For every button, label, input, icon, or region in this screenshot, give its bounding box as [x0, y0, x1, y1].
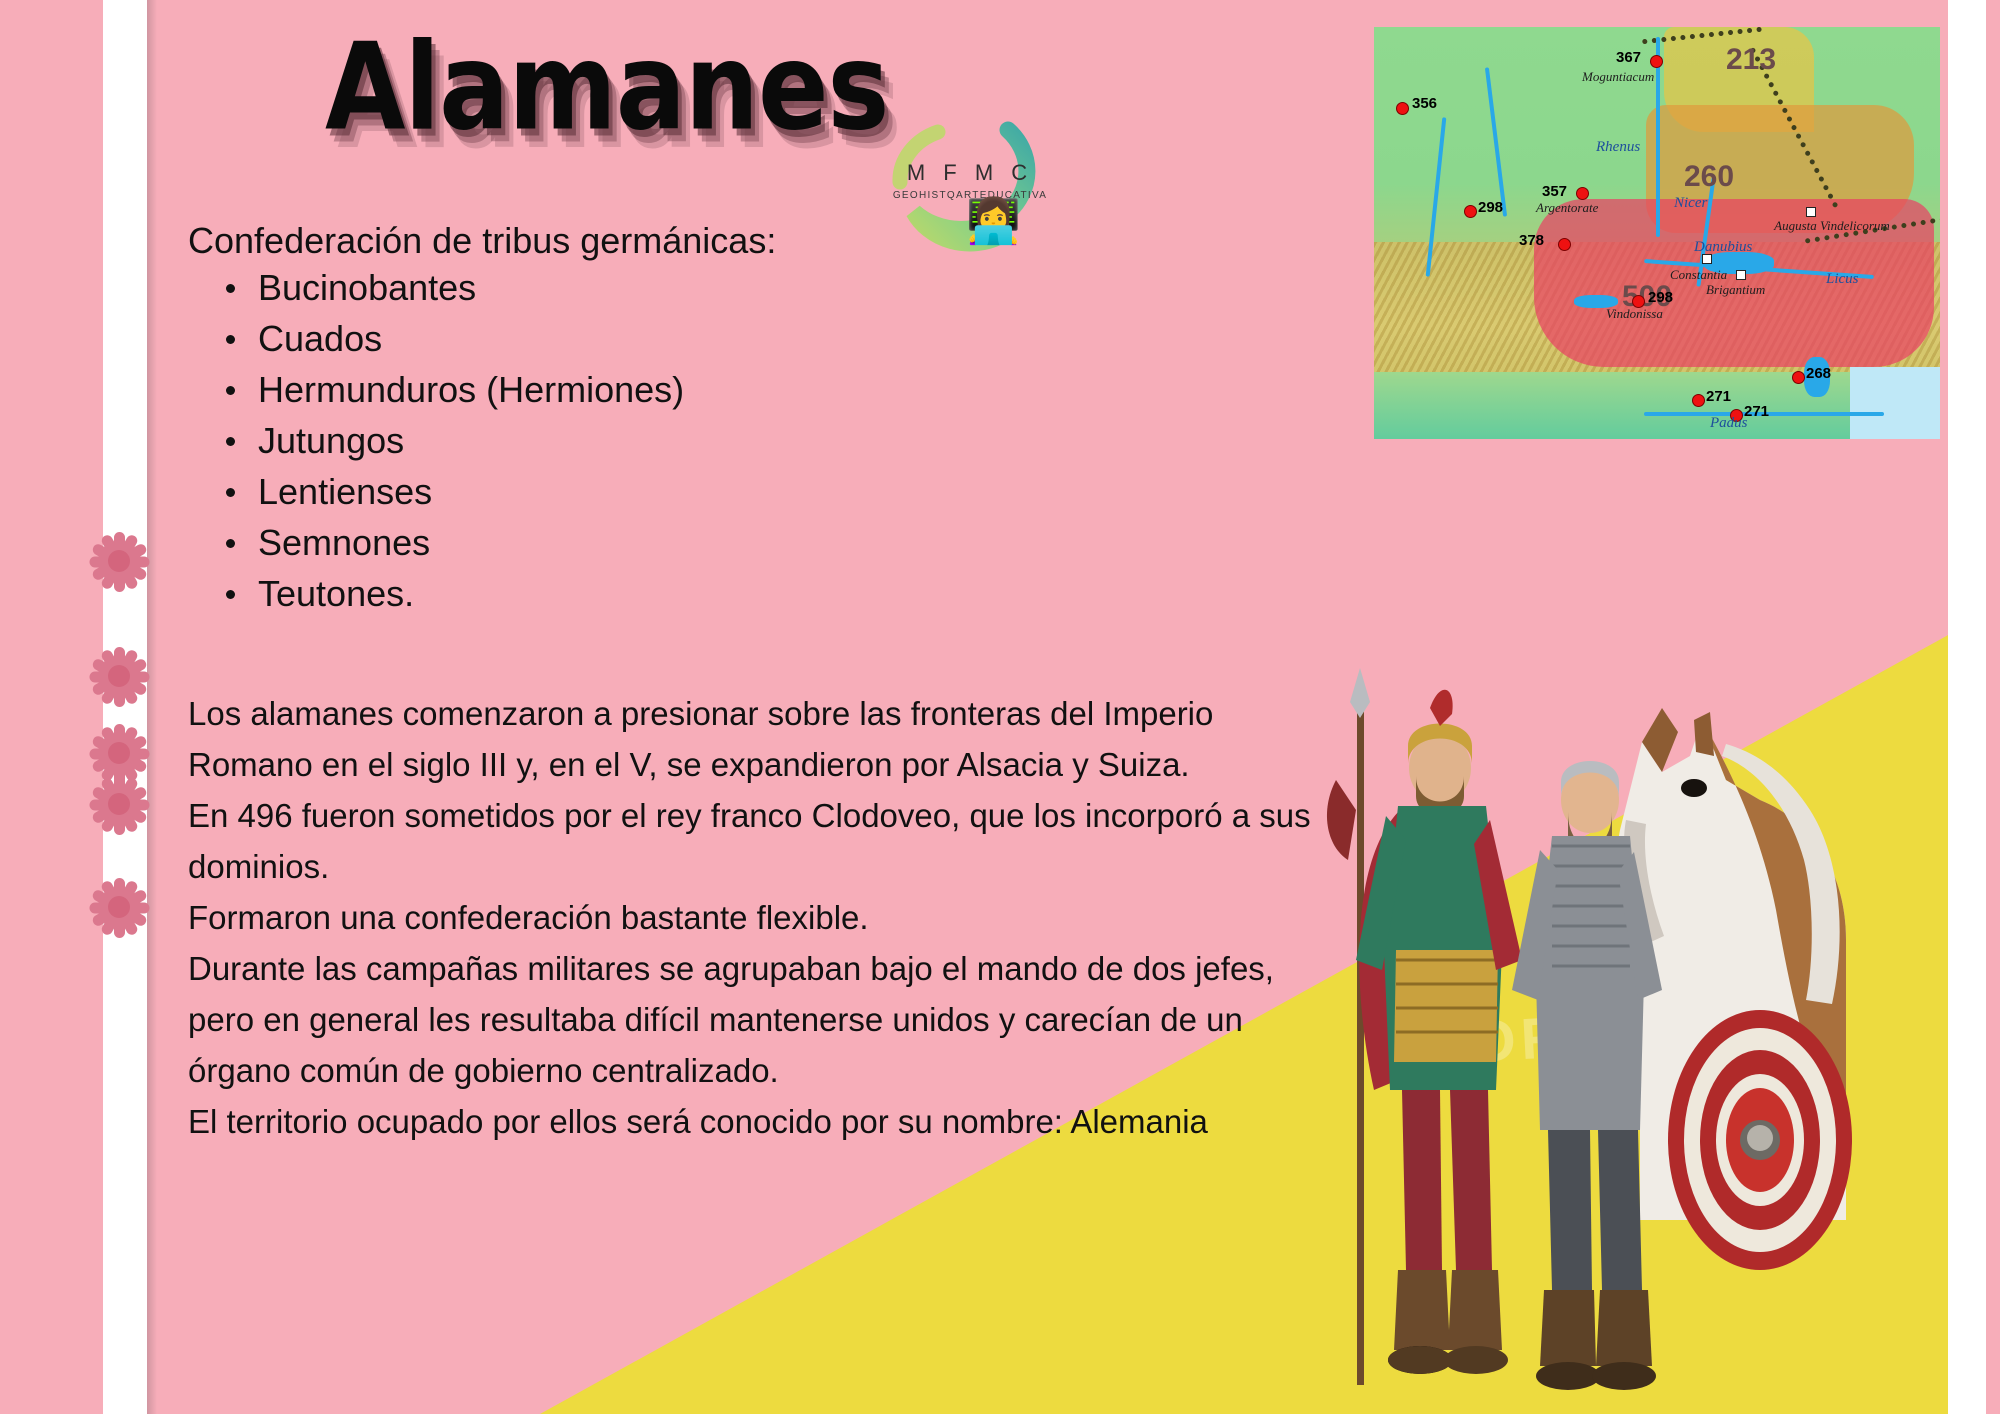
map-dot-label-378: 378 — [1519, 232, 1544, 249]
mfmc-logo: M F M C GEOHISTQARTEDUCATIVA 👩‍💻 — [880, 108, 1060, 258]
paragraph: En 496 fueron sometidos por el rey franc… — [188, 790, 1338, 892]
body-text-block: Los alamanes comenzaron a presionar sobr… — [188, 688, 1338, 1147]
paragraph: Los alamanes comenzaron a presionar sobr… — [188, 688, 1338, 790]
map-dot-label-357: 357 — [1542, 183, 1567, 200]
map-water-danubius: Danubius — [1694, 239, 1752, 256]
map-year-260: 260 — [1684, 160, 1734, 194]
page-title: Alamanes — [325, 28, 877, 158]
list-item: Bucinobantes — [258, 262, 684, 313]
left-pink-band — [0, 0, 103, 1414]
map-city-argentorate: Argentorate — [1536, 200, 1598, 216]
map-dot-label-271-a: 271 — [1706, 388, 1731, 405]
map-dot-label-367: 367 — [1616, 49, 1641, 66]
round-shield — [1668, 1010, 1852, 1270]
map-city-vindonissa: Vindonissa — [1606, 306, 1663, 322]
slide-canvas: 213 260 500 356 367 Moguntiacum 357 Arge… — [0, 0, 2000, 1414]
map-dot-378 — [1558, 238, 1571, 251]
map-dot-label-298-west: 298 — [1478, 199, 1503, 216]
map-dot-268 — [1792, 371, 1805, 384]
map-dot-271-a — [1692, 394, 1705, 407]
map-dot-367 — [1650, 55, 1663, 68]
list-item: Semnones — [258, 517, 684, 568]
map-water-licus: Licus — [1826, 271, 1859, 288]
warrior-left-figure — [1327, 668, 1522, 1385]
map-dot-label-268: 268 — [1806, 365, 1831, 382]
tribe-list: Bucinobantes Cuados Hermunduros (Hermion… — [210, 262, 684, 619]
list-item: Cuados — [258, 313, 684, 364]
left-white-stripe — [103, 0, 147, 1414]
map-city-constantia: Constantia — [1670, 267, 1727, 283]
map-water-nicer: Nicer — [1674, 195, 1707, 212]
map-year-213: 213 — [1726, 43, 1776, 77]
logo-initials: M F M C — [880, 160, 1060, 186]
map-city-brigantium: Brigantium — [1706, 282, 1765, 298]
map-city-augusta-vindelicorum: Augusta Vindelicorum — [1772, 219, 1892, 233]
map-dot-356 — [1396, 102, 1409, 115]
map-water-padus: Padus — [1710, 415, 1748, 432]
map-square-brigantium — [1736, 270, 1746, 280]
map-adriatic-sea — [1850, 367, 1940, 439]
list-item: Teutones. — [258, 568, 684, 619]
logo-person-laptop-icon: 👩‍💻 — [966, 200, 1021, 244]
map-square-augusta — [1806, 207, 1816, 217]
map-dot-298-west — [1464, 205, 1477, 218]
roman-germania-map: 213 260 500 356 367 Moguntiacum 357 Arge… — [1374, 27, 1940, 439]
list-item: Lentienses — [258, 466, 684, 517]
germanic-warriors-illustration — [1290, 660, 2000, 1414]
map-city-moguntiacum: Moguntiacum — [1582, 69, 1654, 85]
map-dot-label-298-vindonissa: 298 — [1648, 289, 1673, 306]
paragraph: Durante las campañas militares se agrupa… — [188, 943, 1338, 1096]
page-title-text: Alamanes — [325, 28, 888, 148]
map-dot-357 — [1576, 187, 1589, 200]
left-edge-shadow — [147, 0, 157, 1414]
intro-line: Confederación de tribus germánicas: — [188, 220, 776, 262]
map-dot-label-356: 356 — [1412, 95, 1437, 112]
list-item: Hermunduros (Hermiones) — [258, 364, 684, 415]
paragraph: El territorio ocupado por ellos será con… — [188, 1096, 1338, 1147]
list-item: Jutungos — [258, 415, 684, 466]
paragraph: Formaron una confederación bastante flex… — [188, 892, 1338, 943]
map-water-rhenus: Rhenus — [1596, 139, 1640, 156]
